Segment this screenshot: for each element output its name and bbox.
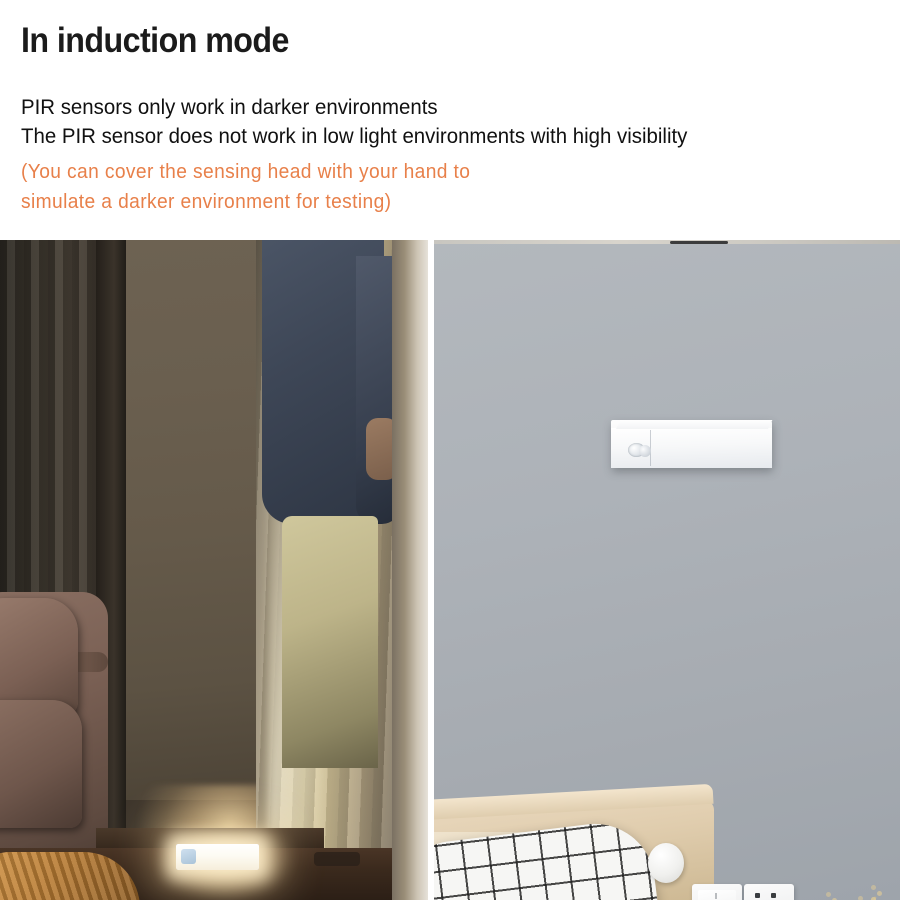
subtitle-line-2: The PIR sensor does not work in low ligh… [21,124,687,149]
dark-room-photo [0,240,428,900]
person-trousers [282,516,378,768]
subtitle-line-1: PIR sensors only work in darker environm… [21,95,438,120]
ceiling-line [434,240,900,244]
panel-bright-room: In low light environments, visibility is… [434,240,900,900]
header-section: In induction mode PIR sensors only work … [0,0,900,240]
sofa-cushion-lower [0,700,82,828]
wall-switch-button[interactable] [698,890,736,900]
right-edge-wall [392,240,428,900]
page-root: In induction mode PIR sensors only work … [0,0,900,900]
page-title: In induction mode [21,21,289,61]
note-line-1: (You can cover the sensing head with you… [21,161,470,184]
sofa-cushion-upper [0,598,78,716]
panel-dark-room: PIR sensors only sense in darker environ… [0,240,428,900]
socket-hole-top-right [771,893,776,898]
comparison-photo-strip: PIR sensors only sense in darker environ… [0,240,900,900]
wall-switch-indicator [715,893,717,899]
pir-sensor-dome-secondary [639,445,651,457]
ceiling-mark [670,241,728,244]
wall-socket[interactable] [744,884,794,900]
note-line-2: simulate a darker environment for testin… [21,191,391,214]
pir-sensor-icon [181,849,196,864]
dried-flower-buds [812,888,900,900]
bright-room-photo [434,240,900,900]
light-bar-top-bevel [616,420,772,429]
furniture-shadow [314,852,360,866]
socket-hole-top-left [755,893,760,898]
pom-pom [648,843,684,883]
